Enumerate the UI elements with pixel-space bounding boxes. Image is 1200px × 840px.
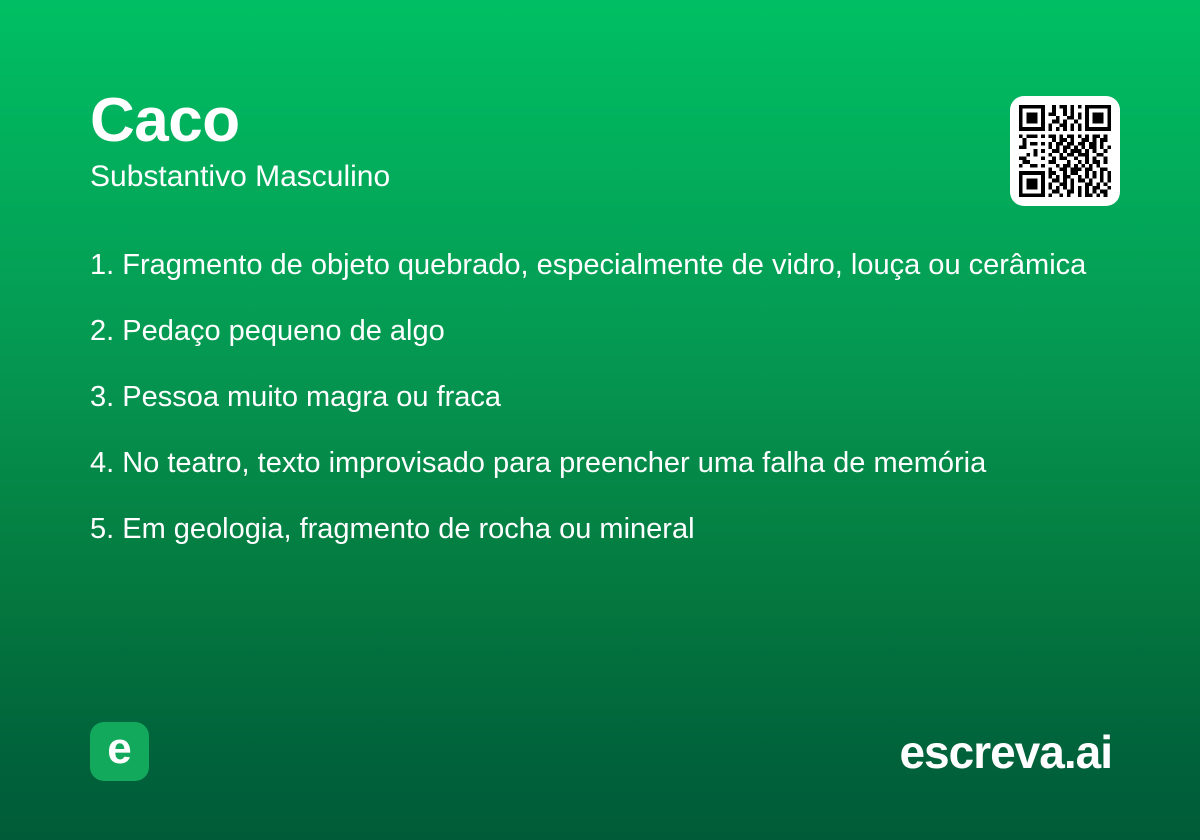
definition-card: Caco Substantivo Masculino <box>0 0 1200 840</box>
definitions-list: 1. Fragmento de objeto quebrado, especia… <box>90 246 1100 548</box>
qr-code[interactable] <box>1010 96 1120 206</box>
list-item: 5. Em geologia, fragmento de rocha ou mi… <box>90 510 1100 548</box>
list-item: 3. Pessoa muito magra ou fraca <box>90 378 1100 416</box>
word-class-label: Substantivo Masculino <box>90 160 970 194</box>
brand-logo-icon: e <box>90 722 149 781</box>
page-title: Caco <box>90 88 970 154</box>
list-item: 2. Pedaço pequeno de algo <box>90 312 1100 350</box>
brand-logo-letter: e <box>107 727 131 771</box>
qr-code-icon <box>1019 105 1111 197</box>
list-item: 1. Fragmento de objeto quebrado, especia… <box>90 246 1100 284</box>
card-header: Caco Substantivo Masculino <box>90 88 970 194</box>
list-item: 4. No teatro, texto improvisado para pre… <box>90 444 1100 482</box>
card-footer: e escreva.ai <box>0 722 1200 784</box>
brand-name: escreva.ai <box>899 724 1112 780</box>
